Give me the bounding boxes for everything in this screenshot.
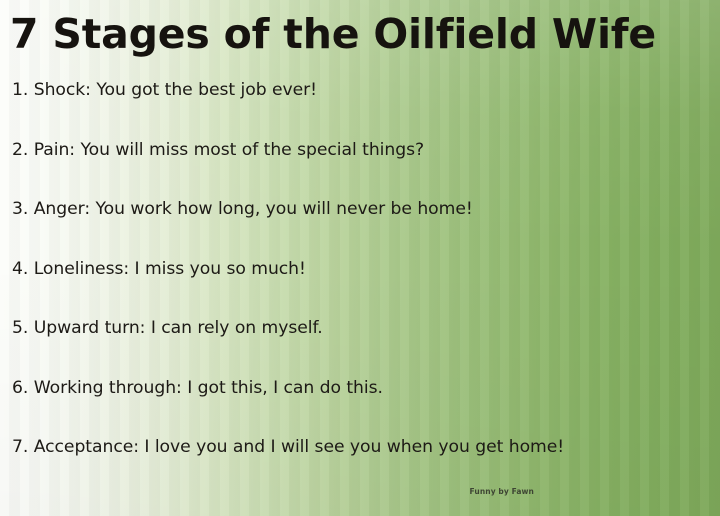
stage-text: 1. Shock: You got the best job ever! [12, 80, 317, 100]
list-item: 6. Working through: I got this, I can do… [12, 376, 718, 436]
list-item: 1. Shock: You got the best job ever! [12, 78, 718, 138]
stage-text: 3. Anger: You work how long, you will ne… [12, 199, 473, 219]
list-item: 2. Pain: You will miss most of the speci… [12, 138, 718, 198]
list-item: 4. Loneliness: I miss you so much! [12, 257, 718, 317]
stage-text: 4. Loneliness: I miss you so much! [12, 259, 306, 279]
list-item: 3. Anger: You work how long, you will ne… [12, 197, 718, 257]
stages-list: 1. Shock: You got the best job ever! 2. … [12, 78, 718, 495]
stage-text: 6. Working through: I got this, I can do… [12, 378, 383, 398]
list-item: 5. Upward turn: I can rely on myself. [12, 316, 718, 376]
stage-text: 7. Acceptance: I love you and I will see… [12, 437, 564, 457]
stage-text: 5. Upward turn: I can rely on myself. [12, 318, 323, 338]
stage-text: 2. Pain: You will miss most of the speci… [12, 140, 424, 160]
attribution-credit: Funny by Fawn [0, 487, 534, 497]
page-title: 7 Stages of the Oilfield Wife [10, 8, 710, 60]
poster-canvas: 7 Stages of the Oilfield Wife 1. Shock: … [0, 0, 720, 516]
list-item: 7. Acceptance: I love you and I will see… [12, 435, 718, 495]
